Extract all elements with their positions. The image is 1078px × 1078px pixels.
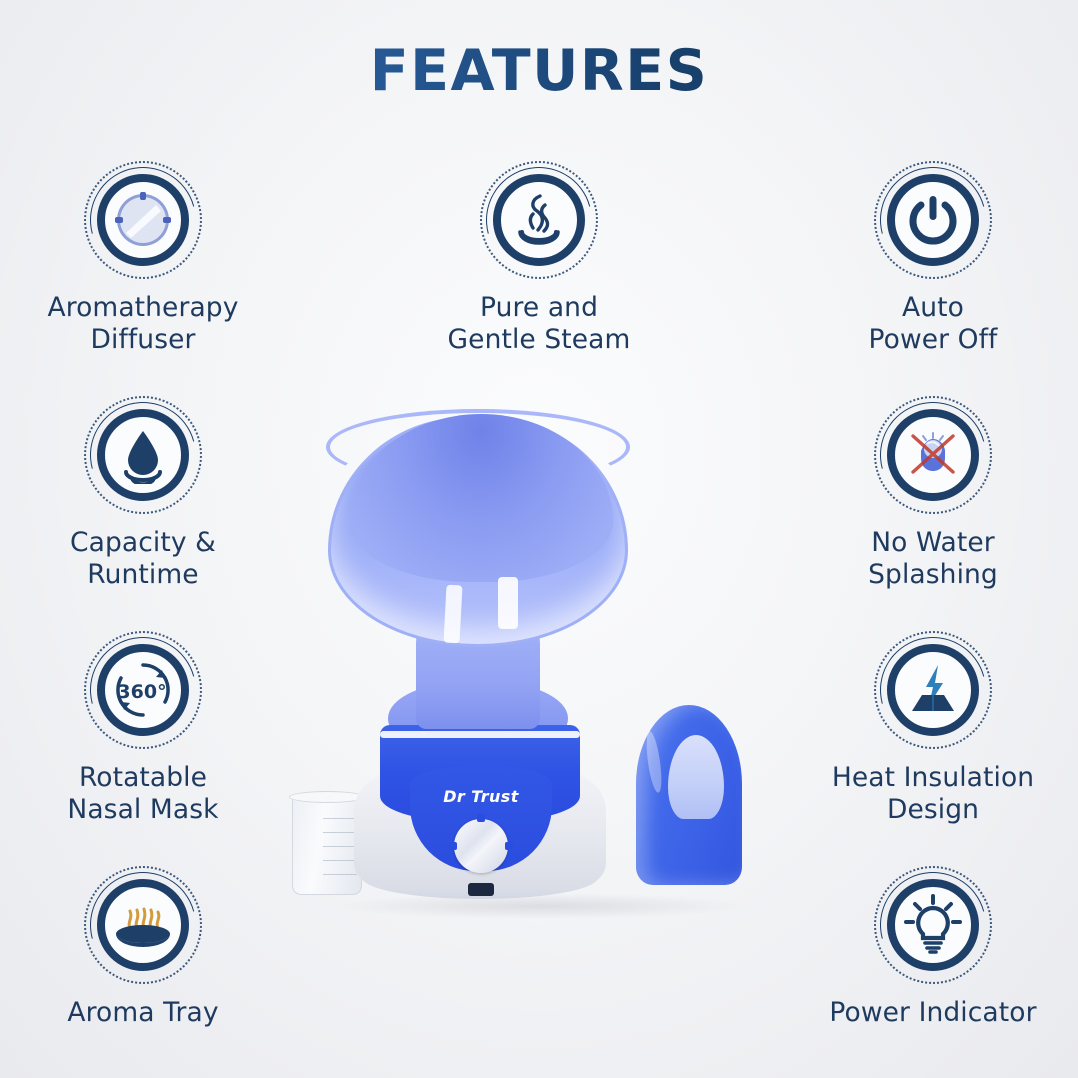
light-bulb-icon xyxy=(895,887,971,963)
feature-icon-badge xyxy=(85,397,201,513)
feature-icon-badge xyxy=(875,162,991,278)
control-knob-icon xyxy=(105,182,181,258)
feature-capacity-runtime: Capacity & Runtime xyxy=(8,397,278,592)
aroma-tray-icon xyxy=(105,887,181,963)
feature-power-indicator: Power Indicator xyxy=(798,867,1068,1029)
steam-bowl-icon xyxy=(501,182,577,258)
feature-label: Rotatable Nasal Mask xyxy=(8,762,278,827)
feature-icon-badge: 360° xyxy=(85,632,201,748)
product-brand-label: Dr Trust xyxy=(410,787,552,806)
feature-auto-power-off: Auto Power Off xyxy=(798,162,1068,357)
feature-label: Aroma Tray xyxy=(8,997,278,1029)
power-button-icon xyxy=(895,182,971,258)
power-indicator-light xyxy=(468,883,494,896)
feature-rotatable-nasal-mask: 360° Rotatable Nasal Mask xyxy=(8,632,278,827)
rotate-360-icon: 360° xyxy=(105,652,181,728)
mask-rim xyxy=(326,409,630,485)
feature-label: Power Indicator xyxy=(798,997,1068,1029)
measuring-cup xyxy=(292,795,362,895)
product-image: Dr Trust xyxy=(270,405,790,925)
feature-label: Heat Insulation Design xyxy=(798,762,1068,827)
feature-label: Auto Power Off xyxy=(798,292,1068,357)
control-knob[interactable] xyxy=(454,819,508,873)
feature-label: No Water Splashing xyxy=(798,527,1068,592)
water-drop-icon xyxy=(105,417,181,493)
rotate-360-label: 360° xyxy=(117,681,166,703)
measuring-cup-rim xyxy=(289,791,365,803)
feature-no-water-splashing: No Water Splashing xyxy=(798,397,1068,592)
mask-highlight-right xyxy=(498,577,518,629)
feature-icon-badge xyxy=(85,162,201,278)
base-seam xyxy=(380,731,580,738)
feature-label: Pure and Gentle Steam xyxy=(404,292,674,357)
feature-icon-badge xyxy=(875,397,991,513)
feature-pure-gentle-steam: Pure and Gentle Steam xyxy=(404,162,674,357)
mask-highlight-left xyxy=(443,585,462,644)
feature-aromatherapy-diffuser: Aromatherapy Diffuser xyxy=(8,162,278,357)
feature-heat-insulation-design: Heat Insulation Design xyxy=(798,632,1068,827)
feature-icon-badge xyxy=(875,867,991,983)
product-shadow xyxy=(330,893,750,919)
page-title: FEATURES xyxy=(0,38,1078,104)
feature-icon-badge xyxy=(85,867,201,983)
feature-label: Capacity & Runtime xyxy=(8,527,278,592)
feature-icon-badge xyxy=(481,162,597,278)
feature-aroma-tray: Aroma Tray xyxy=(8,867,278,1029)
feature-label: Aromatherapy Diffuser xyxy=(8,292,278,357)
heat-insulation-icon xyxy=(895,652,971,728)
feature-icon-badge xyxy=(875,632,991,748)
no-water-splash-icon xyxy=(895,417,971,493)
